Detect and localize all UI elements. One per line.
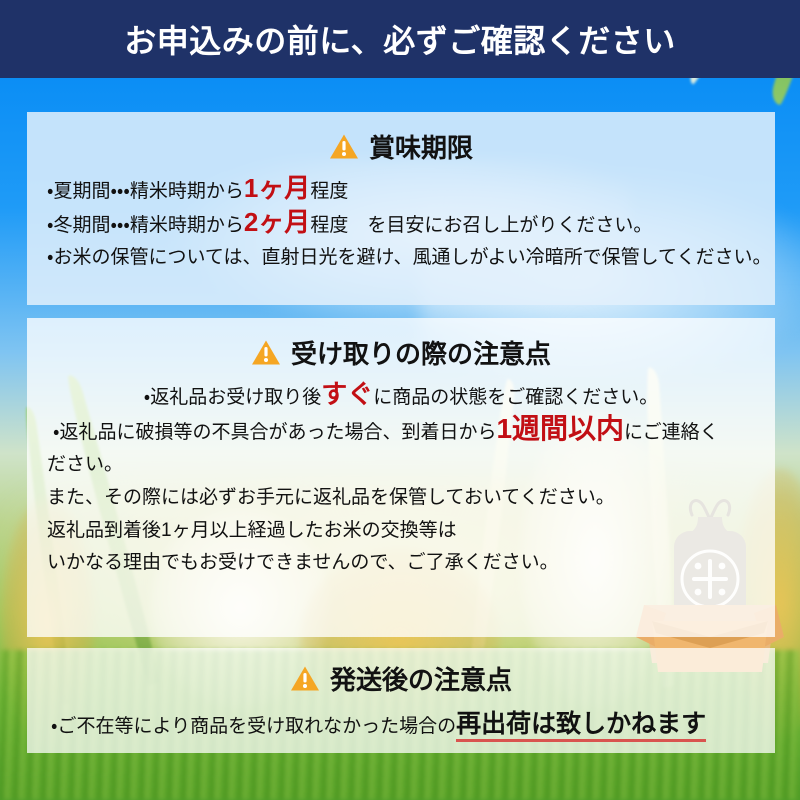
- text-segment: 程度: [310, 181, 348, 202]
- emphasis-text: 1週間以内: [496, 413, 624, 444]
- section-body-receiving-notes: ・返礼品お受け取り後すぐに商品の状態をご確認ください。 ・返礼品に破損等の不具合…: [43, 381, 759, 580]
- emphasis-text: 2ヶ月: [244, 207, 310, 237]
- text-segment: ・お米の保管については、直射日光を避け、風通しがよい冷暗所で保管してください。: [47, 247, 771, 268]
- body-line: ・ご不在等により商品を受け取れなかった場合の再出荷は致しかねます: [51, 703, 755, 746]
- text-segment: にご連絡く: [624, 422, 719, 443]
- body-line: ださい。: [47, 449, 755, 482]
- body-line: また、その際には必ずお手元に返礼品を保管しておいてください。: [47, 482, 755, 515]
- infographic-canvas: お申込みの前に、必ずご確認ください 賞味期限 ・夏期間・・・精米時期から1ヶ月程…: [0, 0, 800, 800]
- section-heading-after-shipping: 発送後の注意点: [43, 660, 759, 697]
- section-best-before: 賞味期限 ・夏期間・・・精米時期から1ヶ月程度 ・冬期間・・・精米時期から2ヶ月…: [27, 112, 775, 305]
- emphasis-text: すぐ: [321, 379, 373, 409]
- text-segment: また、その際には必ずお手元に返礼品を保管しておいてください。: [47, 487, 615, 508]
- text-segment: ・冬期間・・・精米時期から: [47, 215, 244, 236]
- warning-triangle-icon: [251, 339, 281, 366]
- body-line: ・お米の保管については、直射日光を避け、風通しがよい冷暗所で保管してください。: [47, 242, 755, 275]
- text-segment: ・夏期間・・・精米時期から: [47, 181, 244, 202]
- text-segment: ださい。: [47, 454, 123, 475]
- body-line: ・返礼品に破損等の不具合があった場合、到着日から1週間以内にご連絡く: [47, 415, 755, 450]
- body-line: ・冬期間・・・精米時期から2ヶ月程度 を目安にお召し上がりください。: [47, 209, 755, 243]
- body-line: ・返礼品お受け取り後すぐに商品の状態をご確認ください。: [47, 381, 755, 415]
- section-title-text: 発送後の注意点: [330, 660, 512, 697]
- text-segment: ・返礼品お受け取り後: [144, 387, 321, 408]
- body-line: いかなる理由でもお受けできませんので、ご了承ください。: [47, 547, 755, 580]
- text-segment: ・返礼品に破損等の不具合があった場合、到着日から: [53, 422, 496, 443]
- text-segment: いかなる理由でもお受けできませんので、ご了承ください。: [47, 552, 559, 573]
- text-segment: ・ご不在等により商品を受け取れなかった場合の: [51, 716, 456, 737]
- warning-triangle-icon: [290, 665, 320, 692]
- section-body-after-shipping: ・ご不在等により商品を受け取れなかった場合の再出荷は致しかねます: [43, 703, 759, 746]
- page-header: お申込みの前に、必ずご確認ください: [0, 0, 800, 78]
- emphasis-text: 再出荷は致しかねます: [456, 710, 706, 742]
- text-segment: に商品の状態をご確認ください。: [373, 387, 658, 408]
- body-line: ・夏期間・・・精米時期から1ヶ月程度: [47, 175, 755, 209]
- body-line: 返礼品到着後1ヶ月以上経過したお米の交換等は: [47, 515, 755, 548]
- text-segment: 返礼品到着後1ヶ月以上経過したお米の交換等は: [47, 520, 457, 541]
- text-segment: 程度 を目安にお召し上がりください。: [310, 215, 652, 236]
- section-title-text: 受け取りの際の注意点: [291, 334, 551, 371]
- section-heading-receiving-notes: 受け取りの際の注意点: [43, 334, 759, 371]
- warning-triangle-icon: [329, 133, 359, 160]
- page-title: お申込みの前に、必ずご確認ください: [124, 16, 676, 62]
- section-after-shipping-notes: 発送後の注意点 ・ご不在等により商品を受け取れなかった場合の再出荷は致しかねます: [27, 648, 775, 753]
- section-receiving-notes: 受け取りの際の注意点 ・返礼品お受け取り後すぐに商品の状態をご確認ください。 ・…: [27, 318, 775, 637]
- section-heading-best-before: 賞味期限: [43, 128, 759, 165]
- emphasis-text: 1ヶ月: [244, 173, 310, 203]
- section-title-text: 賞味期限: [369, 128, 473, 165]
- section-body-best-before: ・夏期間・・・精米時期から1ヶ月程度 ・冬期間・・・精米時期から2ヶ月程度 を目…: [43, 175, 759, 275]
